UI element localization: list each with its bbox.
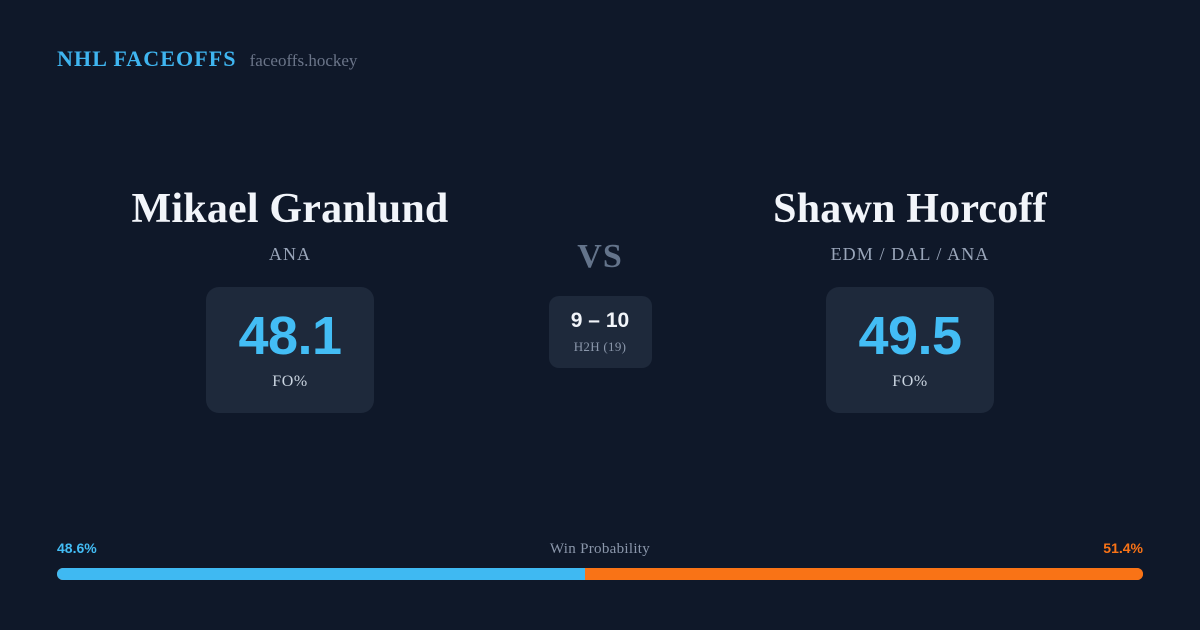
brand-domain: faceoffs.hockey (250, 51, 358, 71)
player-left-name: Mikael Granlund (132, 185, 449, 235)
win-probability-section: 48.6% Win Probability 51.4% (57, 540, 1143, 580)
win-probability-header: 48.6% Win Probability 51.4% (57, 540, 1143, 560)
player-right-stat-card: 49.5 FO% (826, 287, 994, 413)
win-probability-bar-left-segment (57, 568, 585, 580)
player-left-stat-label: FO% (272, 373, 308, 391)
versus-column: VS 9 – 10 H2H (19) (530, 185, 670, 368)
head-to-head-label: H2H (19) (574, 339, 627, 355)
player-right: Shawn Horcoff EDM / DAL / ANA 49.5 FO% (670, 185, 1150, 413)
brand-title: NHL FACEOFFS (57, 46, 237, 72)
versus-label: VS (577, 240, 622, 274)
player-left-stat-card: 48.1 FO% (206, 287, 374, 413)
player-right-name: Shawn Horcoff (773, 185, 1047, 235)
player-right-stat-label: FO% (892, 373, 928, 391)
head-to-head-score: 9 – 10 (571, 310, 629, 331)
player-left: Mikael Granlund ANA 48.1 FO% (50, 185, 530, 413)
faceoff-comparison-card: NHL FACEOFFS faceoffs.hockey Mikael Gran… (0, 0, 1200, 630)
player-left-teams: ANA (269, 244, 311, 265)
win-probability-title: Win Probability (57, 541, 1143, 558)
win-probability-bar-right-segment (585, 568, 1143, 580)
player-right-faceoff-pct: 49.5 (858, 309, 961, 363)
head-to-head-badge: 9 – 10 H2H (19) (549, 296, 652, 368)
site-branding: NHL FACEOFFS faceoffs.hockey (57, 46, 357, 72)
player-right-teams: EDM / DAL / ANA (831, 244, 990, 265)
matchup-row: Mikael Granlund ANA 48.1 FO% VS 9 – 10 H… (0, 185, 1200, 413)
player-left-faceoff-pct: 48.1 (238, 309, 341, 363)
win-probability-bar (57, 568, 1143, 580)
win-probability-right-value: 51.4% (1103, 540, 1143, 556)
